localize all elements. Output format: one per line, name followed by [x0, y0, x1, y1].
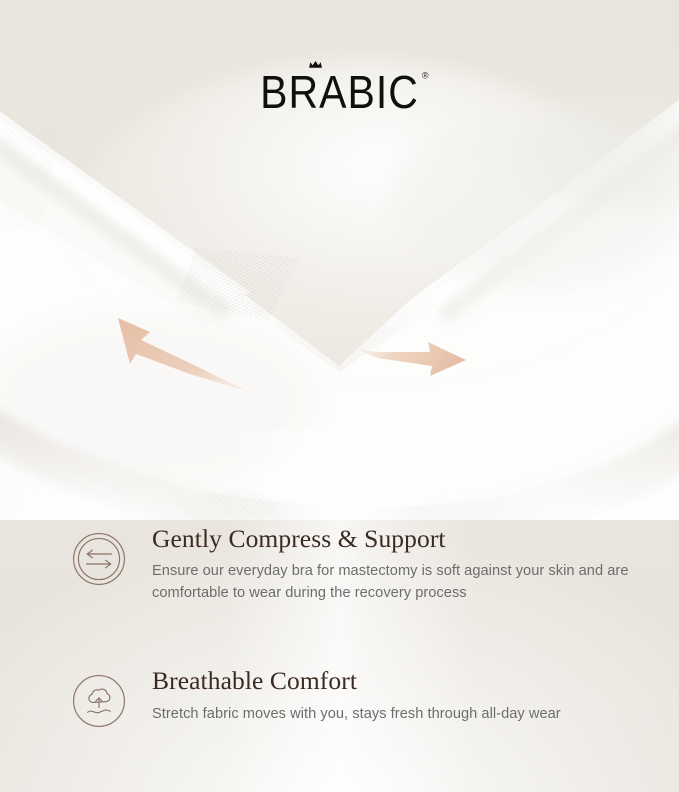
feature-description: Stretch fabric moves with you, stays fre… — [152, 703, 645, 725]
product-feature-banner: BRABIC® G — [0, 0, 679, 792]
hero-fabric-image — [0, 0, 679, 520]
feature-item-breathable-comfort: Breathable Comfort Stretch fabric moves … — [0, 666, 679, 728]
feature-title: Gently Compress & Support — [152, 524, 645, 554]
feature-list: Gently Compress & Support Ensure our eve… — [0, 524, 679, 728]
feature-title: Breathable Comfort — [152, 666, 645, 696]
compress-arrows-icon — [72, 532, 126, 586]
feature-description: Ensure our everyday bra for mastectomy i… — [152, 560, 645, 604]
feature-text-block: Gently Compress & Support Ensure our eve… — [152, 524, 645, 604]
feature-text-block: Breathable Comfort Stretch fabric moves … — [152, 666, 645, 724]
breathable-cloud-icon — [72, 674, 126, 728]
feature-item-compress-support: Gently Compress & Support Ensure our eve… — [0, 524, 679, 604]
